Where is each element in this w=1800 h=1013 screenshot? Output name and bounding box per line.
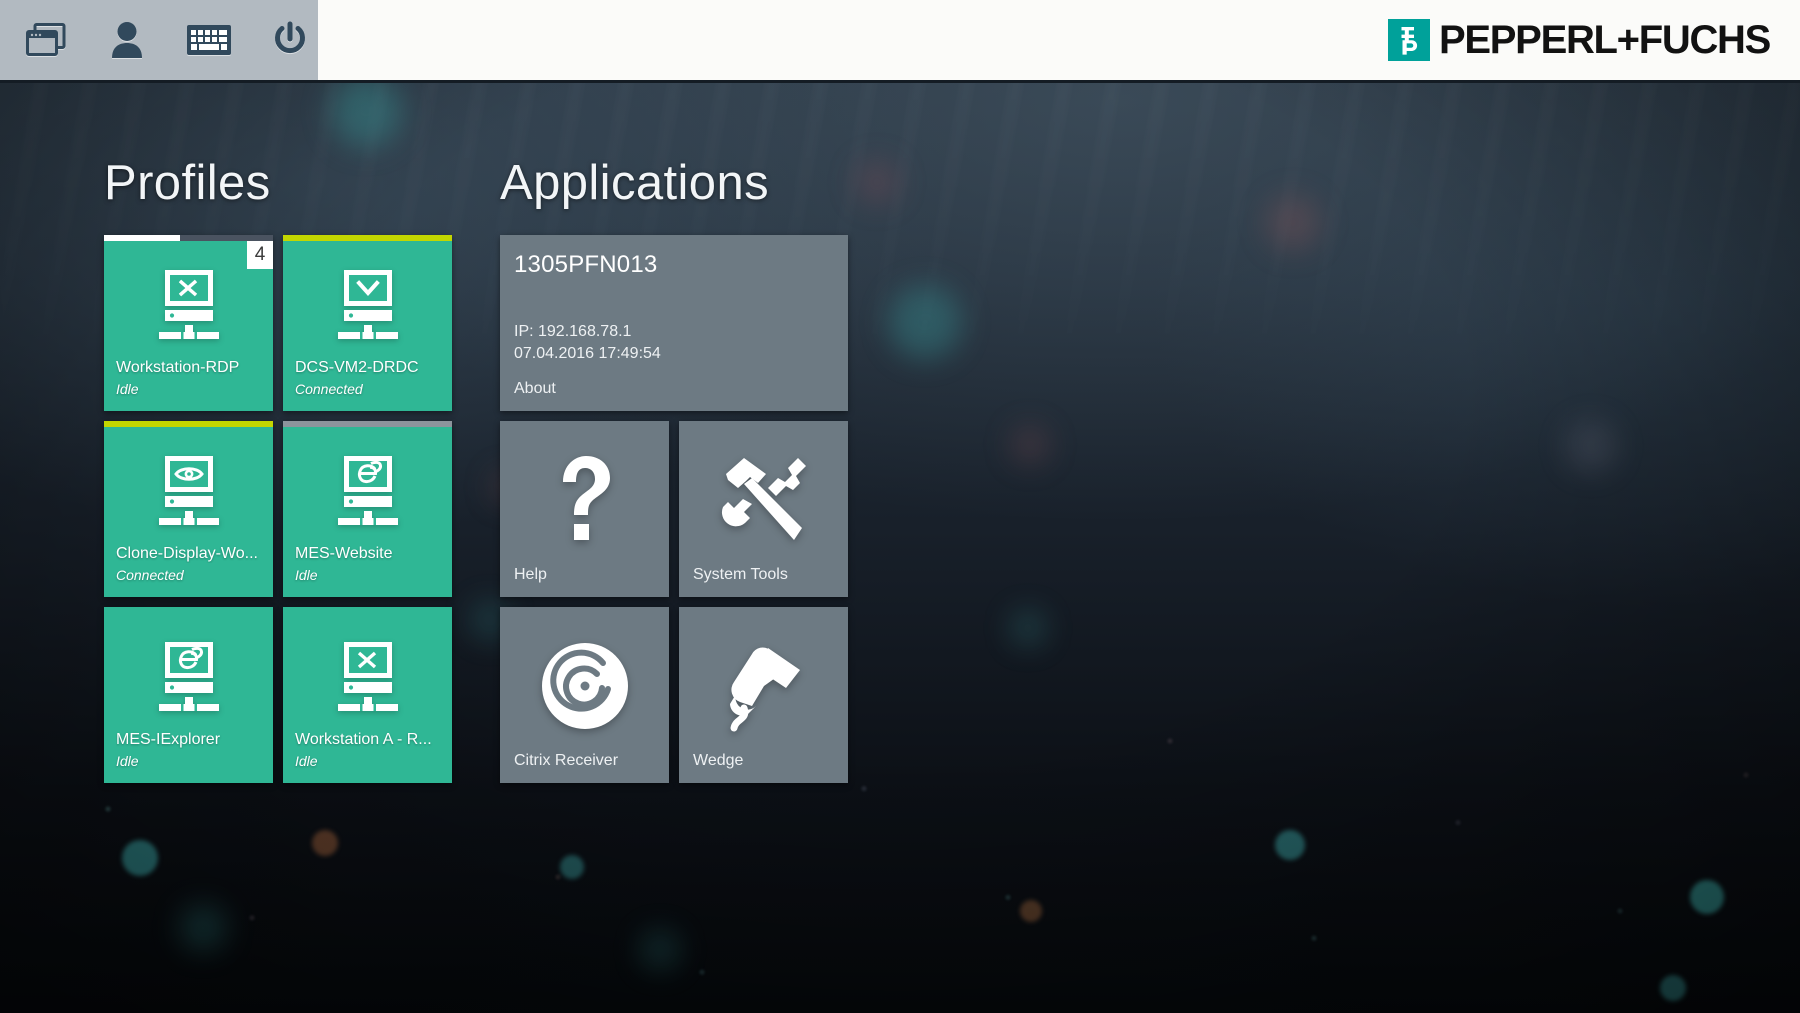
profile-label: Clone-Display-Wo...	[116, 545, 265, 563]
app-tile-system-tools[interactable]: System Tools	[679, 421, 848, 597]
profile-status: Connected	[295, 381, 363, 397]
applications-heading: Applications	[500, 155, 769, 211]
profile-tile-mes-iexplorer[interactable]: MES-IExplorer Idle	[104, 607, 273, 783]
app-label: Citrix Receiver	[514, 752, 618, 770]
profiles-grid: 4 Workstation-RDP Idle	[104, 235, 452, 783]
ip-address-text: IP: 192.168.78.1	[514, 321, 661, 343]
hammer-wrench-icon	[679, 445, 848, 555]
app-label: System Tools	[693, 566, 788, 584]
profile-label: Workstation-RDP	[116, 359, 265, 377]
power-icon[interactable]	[263, 12, 319, 68]
app-tile-help[interactable]: Help	[500, 421, 669, 597]
about-info-tile[interactable]: 1305PFN013 IP: 192.168.78.1 07.04.2016 1…	[500, 235, 848, 411]
applications-grid: 1305PFN013 IP: 192.168.78.1 07.04.2016 1…	[500, 235, 848, 783]
app-label: About	[514, 380, 556, 398]
profile-tile-clone-display[interactable]: Clone-Display-Wo... Connected	[104, 421, 273, 597]
citrix-receiver-icon	[500, 631, 669, 741]
taskbar-tool-group	[0, 0, 318, 80]
app-label: Help	[514, 566, 547, 584]
monitor-chevron-down-icon	[283, 255, 452, 359]
profile-status: Idle	[116, 381, 139, 397]
monitor-eye-icon	[104, 441, 273, 545]
profile-label: MES-IExplorer	[116, 731, 265, 749]
monitor-ie-icon	[104, 627, 273, 731]
profile-status: Idle	[295, 567, 318, 583]
profile-tile-workstation-a[interactable]: Workstation A - R... Idle	[283, 607, 452, 783]
monitor-ie-icon	[283, 441, 452, 545]
profile-tile-dcs-vm2-drdc[interactable]: DCS-VM2-DRDC Connected	[283, 235, 452, 411]
profile-accent-bar	[104, 421, 273, 427]
brand-name: PEPPERL+FUCHS	[1439, 20, 1770, 60]
app-tile-citrix-receiver[interactable]: Citrix Receiver	[500, 607, 669, 783]
brand-logo: PEPPERL+FUCHS	[318, 0, 1800, 80]
barcode-scanner-icon	[679, 631, 848, 741]
profile-label: Workstation A - R...	[295, 731, 444, 749]
datetime-text: 07.04.2016 17:49:54	[514, 343, 661, 365]
profile-tile-mes-website[interactable]: MES-Website Idle	[283, 421, 452, 597]
profile-label: DCS-VM2-DRDC	[295, 359, 444, 377]
profile-accent-bar	[283, 235, 452, 241]
hostname-text: 1305PFN013	[514, 251, 657, 279]
windows-switcher-icon[interactable]	[18, 12, 74, 68]
profile-status: Idle	[116, 753, 139, 769]
host-details: IP: 192.168.78.1 07.04.2016 17:49:54	[514, 321, 661, 364]
profile-tile-workstation-rdp[interactable]: 4 Workstation-RDP Idle	[104, 235, 273, 411]
profiles-heading: Profiles	[104, 155, 271, 211]
profile-accent-bar	[283, 421, 452, 427]
profile-status: Connected	[116, 567, 184, 583]
pepperl-fuchs-mark-icon	[1388, 19, 1430, 61]
monitor-rdp-icon	[104, 255, 273, 359]
keyboard-icon[interactable]	[181, 12, 237, 68]
user-icon[interactable]	[100, 12, 156, 68]
app-tile-wedge[interactable]: Wedge	[679, 607, 848, 783]
profile-status: Idle	[295, 753, 318, 769]
profile-label: MES-Website	[295, 545, 444, 563]
content-area: Profiles Applications 4	[0, 83, 1800, 1013]
taskbar: PEPPERL+FUCHS	[0, 0, 1800, 83]
monitor-rdp-icon	[283, 627, 452, 731]
question-mark-icon	[500, 445, 669, 555]
app-label: Wedge	[693, 752, 743, 770]
